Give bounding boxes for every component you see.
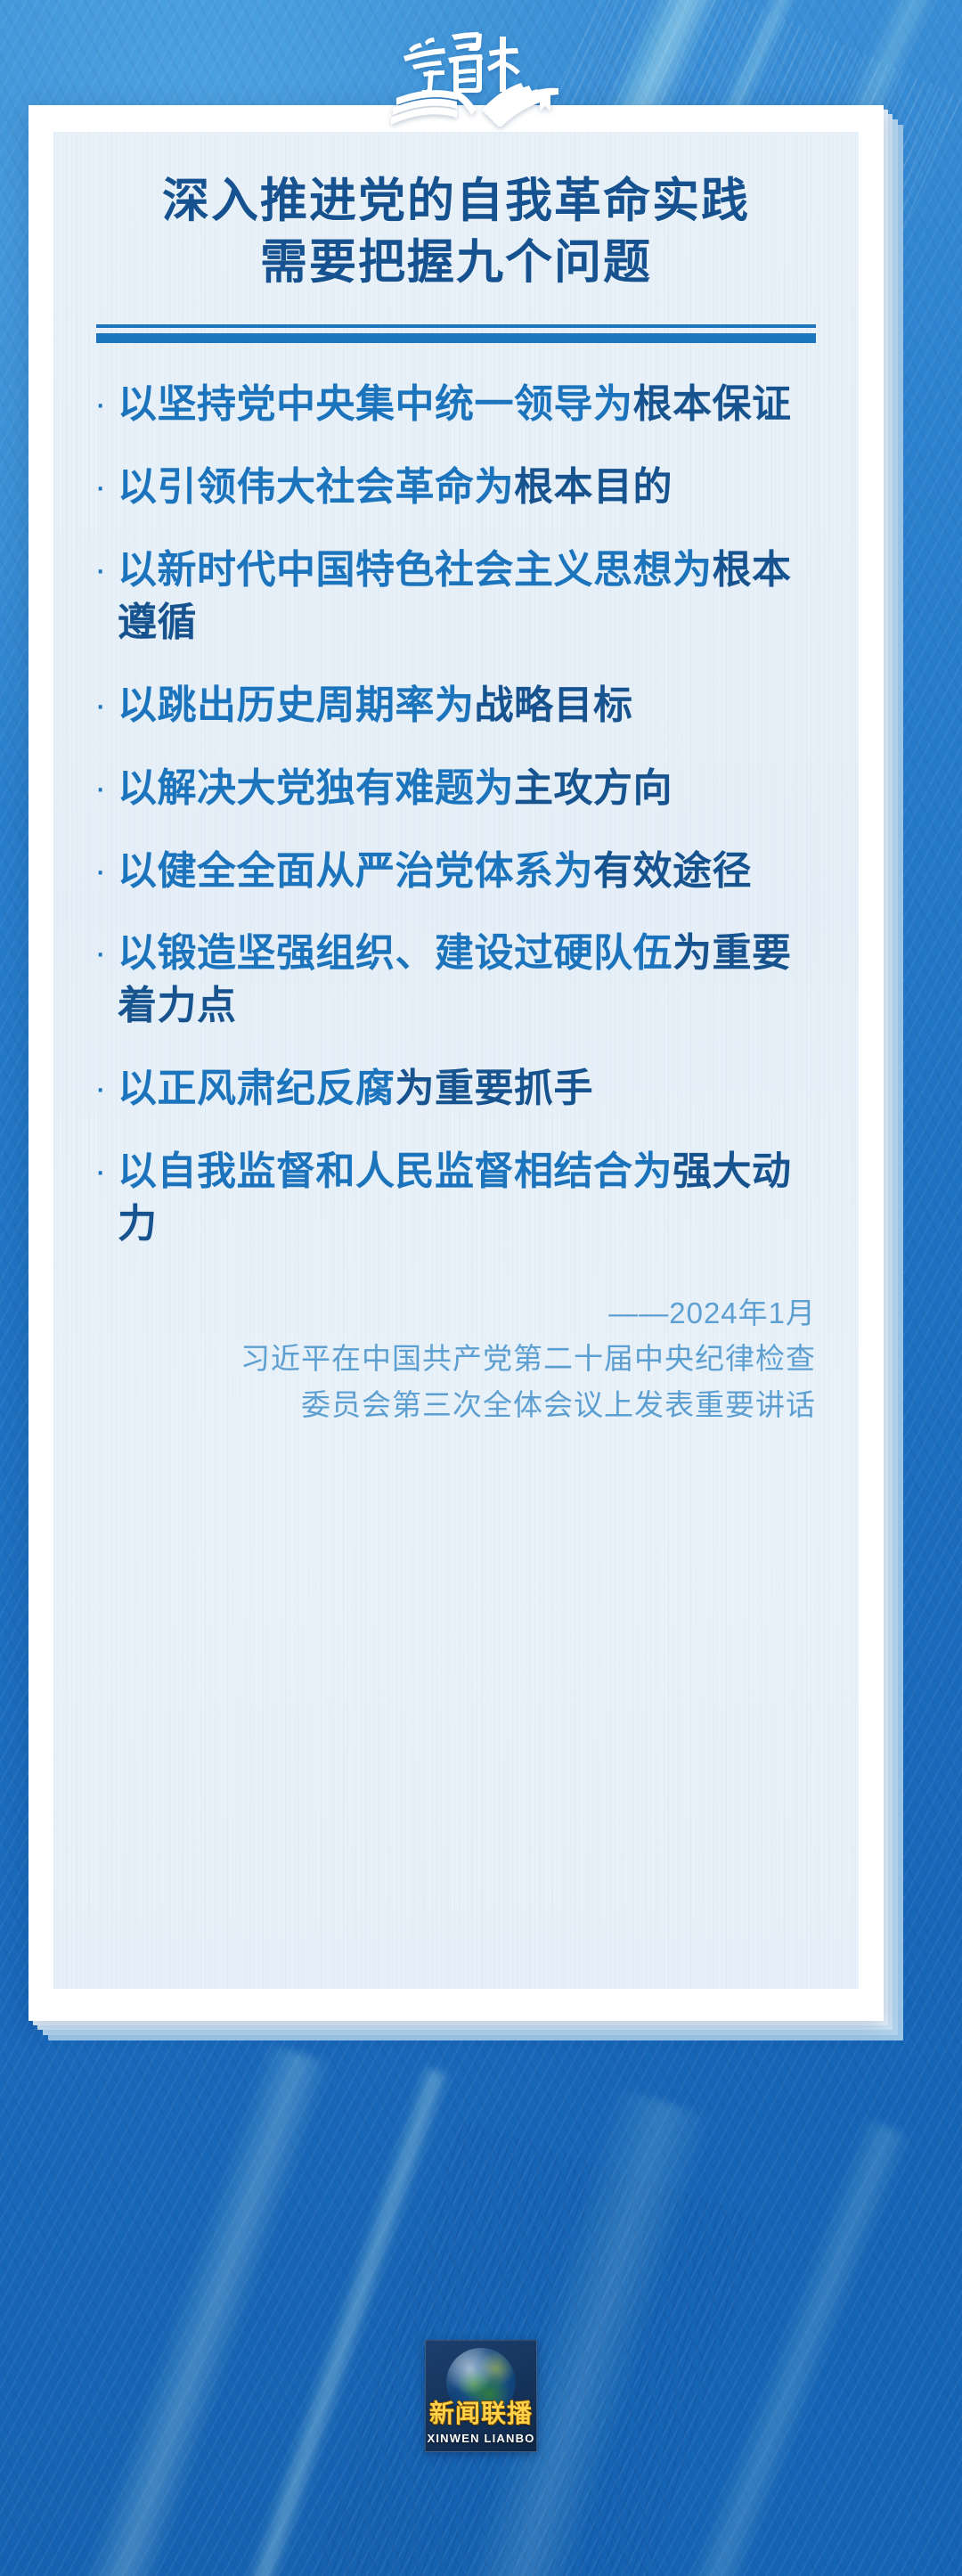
list-item-emphasis: 主攻方向 — [514, 766, 673, 810]
list-item: ·以健全全面从严治党体系为有效途径 — [94, 846, 818, 898]
list-item: ·以正风肃纪反腐为重要抓手 — [94, 1063, 818, 1116]
bullet-icon: · — [94, 544, 118, 595]
list-item: ·以解决大党独有难题为主攻方向 — [94, 763, 818, 815]
open-book-icon — [370, 15, 592, 127]
list-item: ·以新时代中国特色社会主义思想为根本遵循 — [94, 544, 818, 650]
list-item-text: 以引领伟大社会革命为根本目的 — [118, 462, 818, 514]
attribution: ——2024年1月 习近平在中国共产党第二十届中央纪律检查 委员会第三次全体会议… — [93, 1290, 819, 1427]
list-item-lead: 以解决大党独有难题为 — [118, 766, 514, 810]
title-divider — [96, 324, 816, 343]
bullet-icon: · — [94, 680, 118, 731]
list-item-lead: 以坚持党中央集中统一领导为 — [118, 382, 633, 426]
list-item-text: 以健全全面从严治党体系为有效途径 — [118, 846, 818, 898]
list-item-text: 以自我监督和人民监督相结合为强大动力 — [118, 1146, 818, 1251]
list-item-lead: 以健全全面从严治党体系为 — [118, 849, 593, 893]
list-item: ·以自我监督和人民监督相结合为强大动力 — [94, 1146, 818, 1251]
list-item-lead: 以锻造坚强组织、建设过硬队伍 — [118, 931, 673, 975]
bullet-icon: · — [94, 462, 118, 512]
card-inner-panel: 深入推进党的自我革命实践 需要把握九个问题 ·以坚持党中央集中统一领导为根本保证… — [53, 132, 859, 1989]
divider-thick-bar — [96, 333, 816, 343]
bullet-icon: · — [94, 1063, 118, 1114]
list-item-emphasis: 为重要抓手 — [395, 1067, 594, 1110]
footer-logo-cn: 新闻联播 — [429, 2394, 533, 2430]
header-logo — [0, 12, 962, 128]
list-item-emphasis: 战略目标 — [475, 683, 633, 727]
content-card: 深入推进党的自我革命实践 需要把握九个问题 ·以坚持党中央集中统一领导为根本保证… — [29, 105, 884, 2021]
bullet-icon: · — [94, 846, 118, 896]
title-line-2: 需要把握九个问题 — [93, 233, 819, 294]
xuexika-logo — [370, 15, 592, 127]
attribution-line-2: 委员会第三次全体会议上发表重要讲话 — [93, 1382, 816, 1427]
list-item-text: 以锻造坚强组织、建设过硬队伍为重要着力点 — [118, 928, 818, 1033]
bullet-icon: · — [94, 763, 118, 814]
list-item-text: 以坚持党中央集中统一领导为根本保证 — [118, 379, 818, 431]
page-title: 深入推进党的自我革命实践 需要把握九个问题 — [93, 166, 819, 294]
list-item-text: 以跳出历史周期率为战略目标 — [118, 680, 818, 732]
bullet-icon: · — [94, 379, 118, 429]
xinwen-lianbo-logo: 新闻联播 XINWEN LIANBO — [425, 2340, 537, 2452]
card-stack: 深入推进党的自我革命实践 需要把握九个问题 ·以坚持党中央集中统一领导为根本保证… — [29, 105, 933, 2057]
title-line-1: 深入推进党的自我革命实践 — [93, 171, 819, 233]
list-item-lead: 以跳出历史周期率为 — [118, 683, 475, 727]
bullet-icon: · — [94, 928, 118, 978]
list-item: ·以跳出历史周期率为战略目标 — [94, 680, 818, 732]
list-item-lead: 以引领伟大社会革命为 — [118, 465, 514, 509]
list-item-text: 以解决大党独有难题为主攻方向 — [118, 763, 818, 815]
list-item-text: 以新时代中国特色社会主义思想为根本遵循 — [118, 544, 818, 650]
footer-logo-en: XINWEN LIANBO — [427, 2432, 534, 2445]
list-item: ·以锻造坚强组织、建设过硬队伍为重要着力点 — [94, 928, 818, 1033]
list-item: ·以坚持党中央集中统一领导为根本保证 — [94, 379, 818, 431]
list-item-text: 以正风肃纪反腐为重要抓手 — [118, 1063, 818, 1116]
list-item-emphasis: 有效途径 — [593, 849, 752, 893]
list-item-emphasis: 根本目的 — [514, 465, 673, 509]
attribution-date: ——2024年1月 — [93, 1290, 816, 1336]
list-item-lead: 以新时代中国特色社会主义思想为 — [118, 548, 713, 592]
attribution-line-1: 习近平在中国共产党第二十届中央纪律检查 — [93, 1336, 816, 1381]
points-list: ·以坚持党中央集中统一领导为根本保证·以引领伟大社会革命为根本目的·以新时代中国… — [93, 379, 819, 1251]
list-item-emphasis: 根本保证 — [633, 382, 792, 426]
list-item-lead: 以正风肃纪反腐 — [118, 1067, 395, 1110]
list-item: ·以引领伟大社会革命为根本目的 — [94, 462, 818, 514]
bullet-icon: · — [94, 1146, 118, 1197]
list-item-lead: 以自我监督和人民监督相结合为 — [118, 1149, 673, 1193]
